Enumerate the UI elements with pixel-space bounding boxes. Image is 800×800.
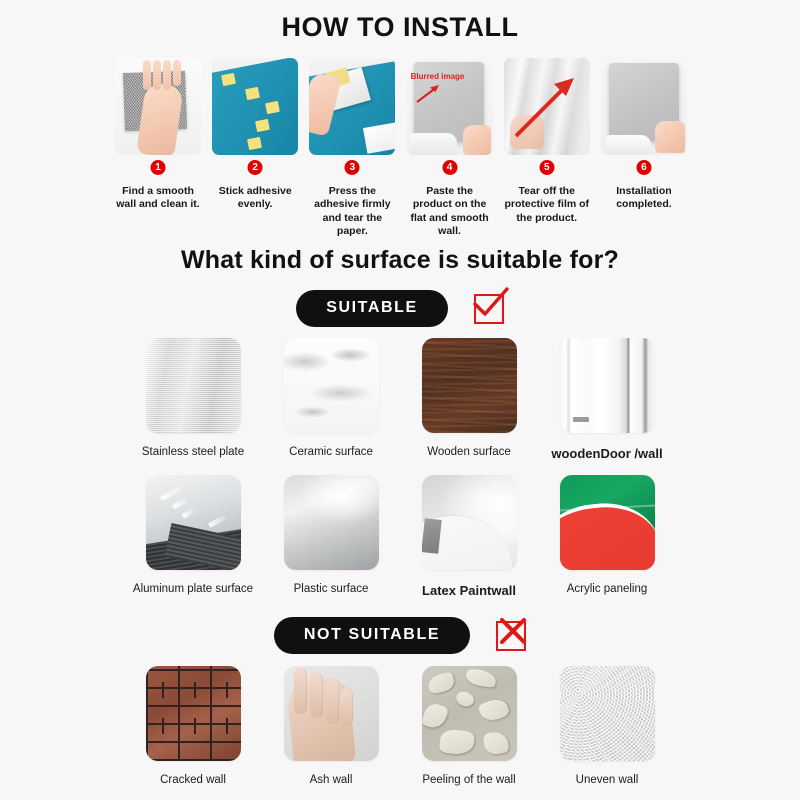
suitable-grid-row-1: Stainless steel plate Ceramic surface Wo… bbox=[0, 338, 800, 461]
surface-item-ceramic-surface: Ceramic surface bbox=[262, 338, 400, 461]
step-image-hands-peeling-protective-film bbox=[504, 58, 590, 155]
step-number-badge: 1 bbox=[151, 160, 166, 175]
step-number-badge: 5 bbox=[539, 160, 554, 175]
surface-image-green-and-red-acrylic-panel bbox=[560, 475, 655, 570]
not-suitable-grid-row-1: Cracked wall Ash wall Peeling of the wal… bbox=[0, 666, 800, 786]
surface-item-label: Cracked wall bbox=[124, 774, 262, 786]
surface-item-latex-paintwall: Latex Paintwall bbox=[400, 475, 538, 598]
install-step-2: 2 Stick adhesive evenly. bbox=[212, 58, 298, 239]
not-suitable-badge-row: NOT SUITABLE bbox=[0, 617, 800, 654]
install-step-3: 3 Press the adhesive firmly and tear the… bbox=[309, 58, 395, 239]
surface-image-white-wooden-door-panel bbox=[560, 338, 655, 433]
page-title: HOW TO INSTALL bbox=[0, 12, 800, 43]
surface-image-rough-uneven-white-wall-texture bbox=[560, 666, 655, 761]
surface-item-plastic-surface: Plastic surface bbox=[262, 475, 400, 598]
surface-item-label: Ceramic surface bbox=[262, 446, 400, 458]
surface-item-label: Latex Paintwall bbox=[400, 583, 538, 598]
surface-item-wooden-surface: Wooden surface bbox=[400, 338, 538, 461]
surface-image-dark-walnut-wood-texture bbox=[422, 338, 517, 433]
check-icon bbox=[474, 294, 504, 324]
surface-image-red-brick-wall-texture bbox=[146, 666, 241, 761]
surface-item-label: Uneven wall bbox=[538, 774, 676, 786]
step-image-hand-wiping-wall-with-cloth bbox=[115, 58, 201, 155]
step-caption: Paste the product on the flat and smooth… bbox=[407, 185, 493, 239]
step-caption: Installation completed. bbox=[601, 185, 687, 212]
step-number-badge: 6 bbox=[636, 160, 651, 175]
section-title-surface: What kind of surface is suitable for? bbox=[0, 246, 800, 275]
surface-item-label: woodenDoor /wall bbox=[538, 446, 676, 461]
suitable-badge-row: SUITABLE bbox=[0, 290, 800, 327]
step-image-installed-panel-on-wall bbox=[601, 58, 687, 155]
step-caption: Press the adhesive firmly and tear the p… bbox=[309, 185, 395, 239]
suitable-grid-row-2: Aluminum plate surface Plastic surface L… bbox=[0, 475, 800, 598]
surface-image-glossy-gray-plastic-surface bbox=[284, 475, 379, 570]
surface-item-cracked-wall: Cracked wall bbox=[124, 666, 262, 786]
surface-item-label: Acrylic paneling bbox=[538, 583, 676, 595]
install-step-4: Blurred image 4 Paste the product on the… bbox=[407, 58, 493, 239]
surface-item-label: Aluminum plate surface bbox=[124, 583, 262, 595]
surface-item-label: Peeling of the wall bbox=[400, 774, 538, 786]
surface-item-label: Stainless steel plate bbox=[124, 446, 262, 458]
surface-image-peeling-paint-wall-texture bbox=[422, 666, 517, 761]
blurred-image-label: Blurred image bbox=[411, 72, 465, 81]
step-image-hands-pasting-panel-on-wall: Blurred image bbox=[407, 58, 493, 155]
surface-item-peeling-of-the-wall: Peeling of the wall bbox=[400, 666, 538, 786]
blurred-image-arrow-icon bbox=[415, 84, 441, 104]
step-caption: Stick adhesive evenly. bbox=[212, 185, 298, 212]
surface-image-latex-painted-wall-corner bbox=[422, 475, 517, 570]
not-suitable-badge: NOT SUITABLE bbox=[274, 617, 470, 654]
step-image-hand-tearing-adhesive-backing-paper bbox=[309, 58, 395, 155]
surface-item-label: Wooden surface bbox=[400, 446, 538, 458]
surface-item-label: Plastic surface bbox=[262, 583, 400, 595]
step-number-badge: 3 bbox=[345, 160, 360, 175]
install-step-5: 5 Tear off the protective film of the pr… bbox=[504, 58, 590, 239]
step-caption: Find a smooth wall and clean it. bbox=[115, 185, 201, 212]
install-steps-row: 1 Find a smooth wall and clean it. 2 Sti… bbox=[115, 58, 687, 239]
surface-image-white-marble-ceramic-texture bbox=[284, 338, 379, 433]
step-image-teal-panel-with-yellow-adhesive-squares bbox=[212, 58, 298, 155]
step-number-badge: 4 bbox=[442, 160, 457, 175]
surface-item-wooden-door-wall: woodenDoor /wall bbox=[538, 338, 676, 461]
peel-direction-arrow-icon bbox=[512, 74, 576, 140]
cross-icon bbox=[496, 621, 526, 651]
surface-item-stainless-steel-plate: Stainless steel plate bbox=[124, 338, 262, 461]
surface-item-acrylic-paneling: Acrylic paneling bbox=[538, 475, 676, 598]
suitable-badge: SUITABLE bbox=[296, 290, 448, 327]
surface-image-stacked-aluminum-plates bbox=[146, 475, 241, 570]
surface-item-label: Ash wall bbox=[262, 774, 400, 786]
surface-item-ash-wall: Ash wall bbox=[262, 666, 400, 786]
step-number-badge: 2 bbox=[248, 160, 263, 175]
surface-item-uneven-wall: Uneven wall bbox=[538, 666, 676, 786]
install-step-1: 1 Find a smooth wall and clean it. bbox=[115, 58, 201, 239]
surface-item-aluminum-plate-surface: Aluminum plate surface bbox=[124, 475, 262, 598]
surface-image-brushed-stainless-steel-texture bbox=[146, 338, 241, 433]
surface-image-hand-touching-dusty-ash-wall bbox=[284, 666, 379, 761]
step-caption: Tear off the protective film of the prod… bbox=[504, 185, 590, 225]
install-step-6: 6 Installation completed. bbox=[601, 58, 687, 239]
